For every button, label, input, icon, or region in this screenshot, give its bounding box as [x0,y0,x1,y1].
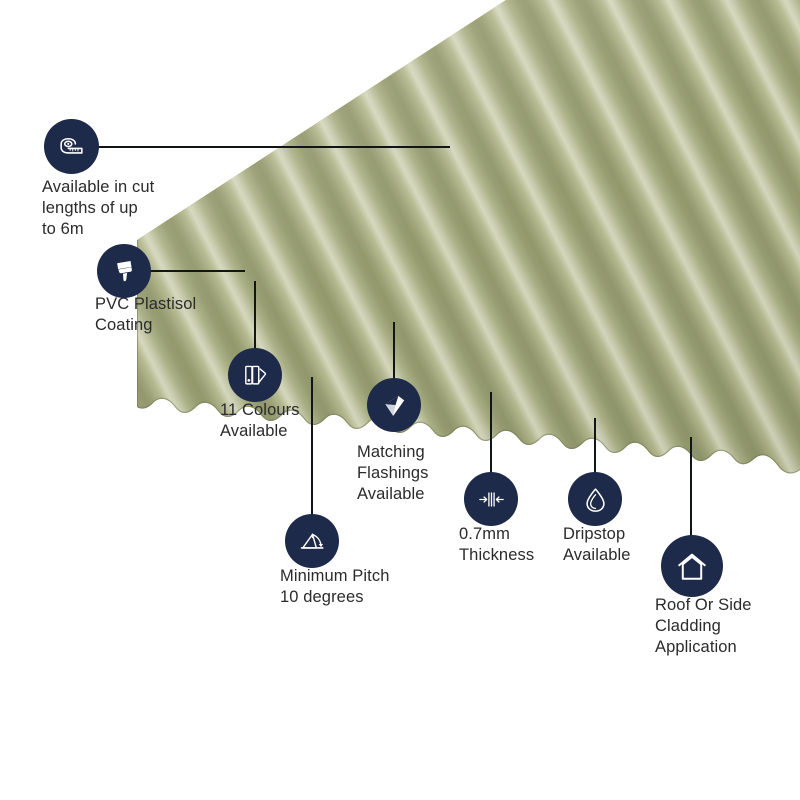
water-droplet-icon [580,484,611,515]
measuring-tape-icon [56,131,87,162]
leader-line-pvc-plastisol-coating [147,270,245,272]
feature-badge-pvc-plastisol-coating[interactable] [97,244,151,298]
leader-line-minimum-pitch [311,377,313,516]
house-outline-icon [675,549,709,583]
feature-label-colours-available: 11 Colours Available [220,400,380,442]
colour-swatch-fan-icon [240,360,271,391]
feature-badge-dripstop[interactable] [568,472,622,526]
flashing-fold-icon [379,390,410,421]
paintbrush-icon [109,256,139,286]
leader-line-dripstop [594,418,596,474]
feature-label-cut-lengths: Available in cut lengths of up to 6m [42,177,232,239]
leader-line-cut-lengths [92,146,450,148]
feature-badge-colours-available[interactable] [228,348,282,402]
feature-badge-minimum-pitch[interactable] [285,514,339,568]
leader-line-roof-or-side-cladding [690,437,692,537]
feature-badge-cut-lengths[interactable] [44,119,99,174]
feature-label-minimum-pitch: Minimum Pitch 10 degrees [280,566,460,608]
feature-badge-roof-or-side-cladding[interactable] [661,535,723,597]
thickness-arrows-icon [476,484,507,515]
feature-label-pvc-plastisol-coating: PVC Plastisol Coating [95,294,265,336]
leader-line-matching-flashings [393,322,395,380]
feature-label-roof-or-side-cladding: Roof Or Side Cladding Application [655,595,800,657]
pitch-angle-icon [297,526,328,557]
feature-badge-thickness[interactable] [464,472,518,526]
infographic-canvas: Available in cut lengths of up to 6m PVC… [0,0,800,800]
feature-badge-matching-flashings[interactable] [367,378,421,432]
